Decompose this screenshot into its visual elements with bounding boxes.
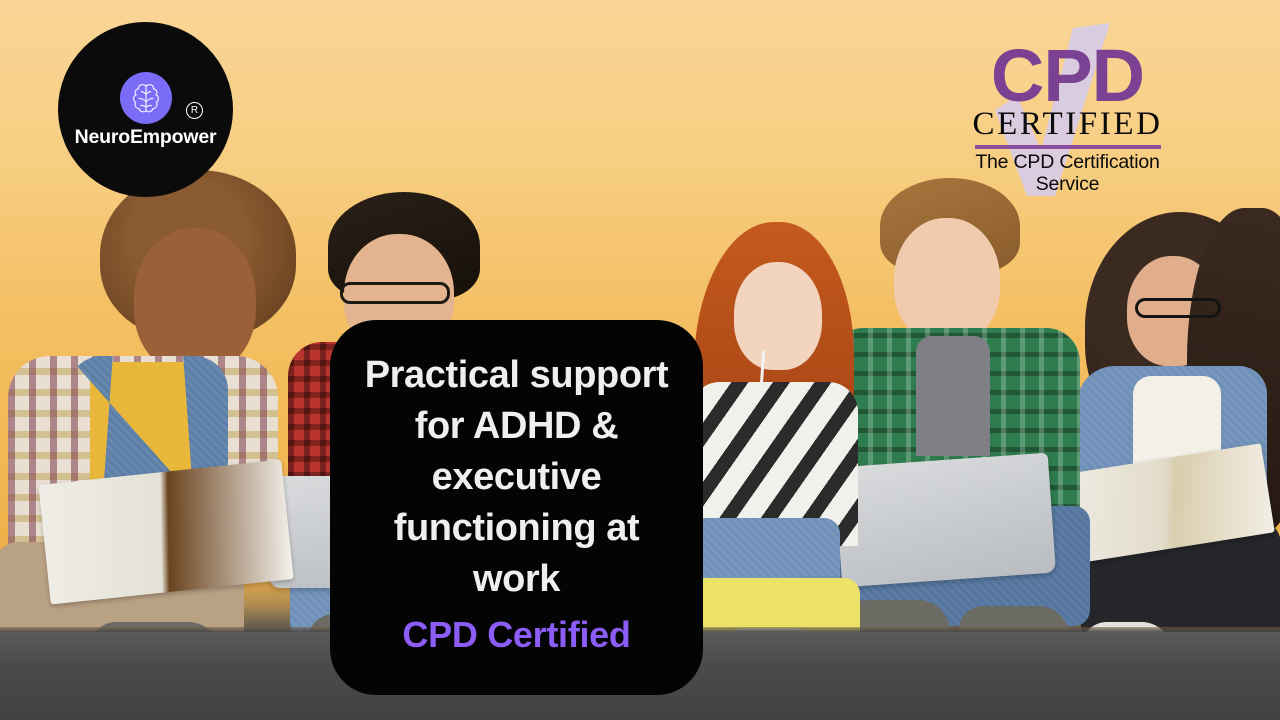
headline-card: Practical support for ADHD & executive f… xyxy=(330,320,703,695)
cpd-service-line-1: The CPD Certification xyxy=(955,151,1180,173)
logo-wordmark: NeuroEmpower xyxy=(75,128,217,148)
person-student-5 xyxy=(1075,190,1280,660)
neuroempower-logo[interactable]: NeuroEmpower R xyxy=(58,22,233,197)
open-notebook xyxy=(38,460,293,605)
brain-icon xyxy=(120,72,172,124)
person-student-3 xyxy=(690,200,875,660)
registered-mark-icon: R xyxy=(186,102,203,119)
cpd-service-line-2: Service xyxy=(955,173,1180,195)
page-title: Practical support for ADHD & executive f… xyxy=(365,350,669,605)
person-student-1 xyxy=(0,170,324,670)
cpd-certified-badge: CPD CERTIFIED The CPD Certification Serv… xyxy=(955,18,1180,203)
promo-banner: NeuroEmpower R CPD CERTIFIED The CPD Cer… xyxy=(0,0,1280,720)
glasses-icon xyxy=(1135,298,1221,318)
cpd-letters: CPD xyxy=(955,18,1180,111)
cpd-divider xyxy=(975,145,1161,149)
brain-icon-wrapper xyxy=(120,72,172,124)
glasses-icon xyxy=(340,282,450,304)
cpd-service-text: The CPD Certification Service xyxy=(955,151,1180,195)
cpd-certified-text: CERTIFIED xyxy=(955,107,1180,142)
logo-wordmark-row: NeuroEmpower xyxy=(75,128,217,148)
cpd-certified-subtitle: CPD Certified xyxy=(402,609,630,661)
